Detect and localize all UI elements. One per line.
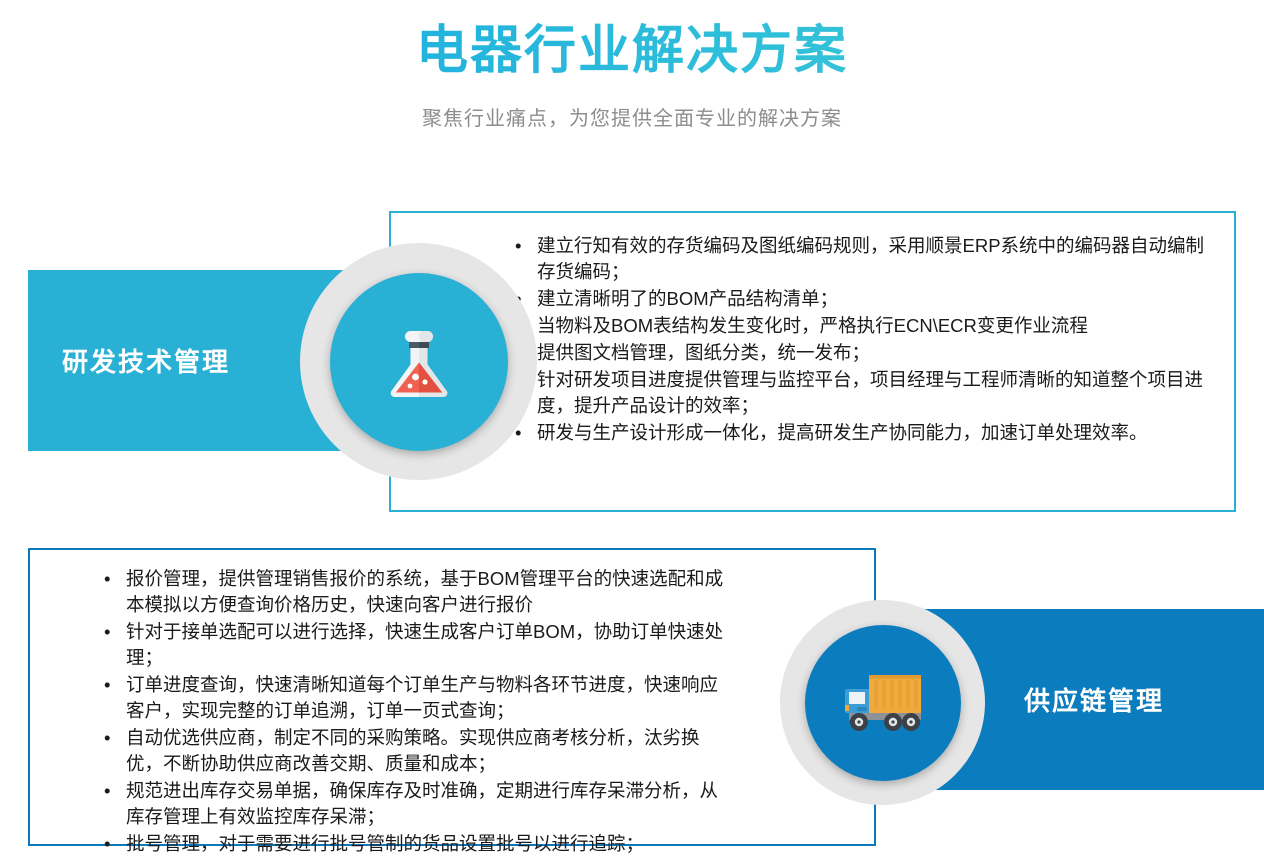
rd-label-text: 研发技术管理 xyxy=(62,342,230,379)
page-subtitle: 聚焦行业痛点，为您提供全面专业的解决方案 xyxy=(0,82,1264,131)
list-item-text: 针对于接单选配可以进行选择，快速生成客户订单BOM，协助订单快速处理； xyxy=(126,621,723,668)
bullet-dot: • xyxy=(104,778,110,804)
truck-icon xyxy=(837,671,929,735)
list-item: • 提供图文档管理，图纸分类，统一发布； xyxy=(499,340,1212,366)
rd-icon-ring xyxy=(300,243,537,480)
list-item-text: 提供图文档管理，图纸分类，统一发布； xyxy=(537,342,870,363)
list-item: • 建立行知有效的存货编码及图纸编码规则，采用顺景ERP系统中的编码器自动编制存… xyxy=(499,233,1212,285)
list-item-text: 建立行知有效的存货编码及图纸编码规则，采用顺景ERP系统中的编码器自动编制存货编… xyxy=(537,235,1204,282)
list-item: • 订单进度查询，快速清晰知道每个订单生产与物料各环节进度，快速响应客户，实现完… xyxy=(88,672,724,724)
list-item-text: 批号管理，对于需要进行批号管制的货品设置批号以进行追踪； xyxy=(126,833,644,854)
bullet-dot: • xyxy=(515,233,521,259)
list-item: • 当物料及BOM表结构发生变化时，严格执行ECN\ECR变更作业流程 xyxy=(499,313,1212,339)
list-item: • 自动优选供应商，制定不同的采购策略。实现供应商考核分析，汰劣换优，不断协助供… xyxy=(88,725,724,777)
list-item-text: 当物料及BOM表结构发生变化时，严格执行ECN\ECR变更作业流程 xyxy=(537,315,1088,336)
supply-label-text: 供应链管理 xyxy=(1024,681,1164,718)
list-item: • 规范进出库存交易单据，确保库存及时准确，定期进行库存呆滞分析，从库存管理上有… xyxy=(88,778,724,830)
supply-bullet-list: • 报价管理，提供管理销售报价的系统，基于BOM管理平台的快速选配和成本模拟以方… xyxy=(30,550,874,857)
supply-icon-ring xyxy=(780,600,985,805)
bullet-dot: • xyxy=(104,725,110,751)
list-item-text: 订单进度查询，快速清晰知道每个订单生产与物料各环节进度，快速响应客户，实现完整的… xyxy=(126,674,718,721)
list-item-text: 研发与生产设计形成一体化，提高研发生产协同能力，加速订单处理效率。 xyxy=(537,422,1148,443)
page-header: 电器行业解决方案 聚焦行业痛点，为您提供全面专业的解决方案 xyxy=(0,0,1264,131)
bullet-dot: • xyxy=(104,619,110,645)
rd-icon-disc xyxy=(330,273,508,451)
list-item-text: 针对研发项目进度提供管理与监控平台，项目经理与工程师清晰的知道整个项目进度，提升… xyxy=(537,369,1203,416)
bullet-dot: • xyxy=(104,831,110,857)
list-item: • 建立清晰明了的BOM产品结构清单； xyxy=(499,286,1212,312)
list-item: • 针对于接单选配可以进行选择，快速生成客户订单BOM，协助订单快速处理； xyxy=(88,619,724,671)
list-item: • 批号管理，对于需要进行批号管制的货品设置批号以进行追踪； xyxy=(88,831,724,857)
list-item: • 研发与生产设计形成一体化，提高研发生产协同能力，加速订单处理效率。 xyxy=(499,420,1212,446)
list-item-text: 规范进出库存交易单据，确保库存及时准确，定期进行库存呆滞分析，从库存管理上有效监… xyxy=(126,780,718,827)
list-item-text: 报价管理，提供管理销售报价的系统，基于BOM管理平台的快速选配和成本模拟以方便查… xyxy=(126,568,723,615)
list-item-text: 建立清晰明了的BOM产品结构清单； xyxy=(537,288,838,309)
supply-text-box: • 报价管理，提供管理销售报价的系统，基于BOM管理平台的快速选配和成本模拟以方… xyxy=(28,548,876,846)
bullet-dot: • xyxy=(104,672,110,698)
flask-icon xyxy=(376,319,462,405)
bullet-dot: • xyxy=(104,566,110,592)
page-title: 电器行业解决方案 xyxy=(0,0,1264,82)
list-item: • 针对研发项目进度提供管理与监控平台，项目经理与工程师清晰的知道整个项目进度，… xyxy=(499,367,1212,419)
list-item: • 报价管理，提供管理销售报价的系统，基于BOM管理平台的快速选配和成本模拟以方… xyxy=(88,566,724,618)
list-item-text: 自动优选供应商，制定不同的采购策略。实现供应商考核分析，汰劣换优，不断协助供应商… xyxy=(126,727,700,774)
supply-icon-disc xyxy=(805,625,961,781)
